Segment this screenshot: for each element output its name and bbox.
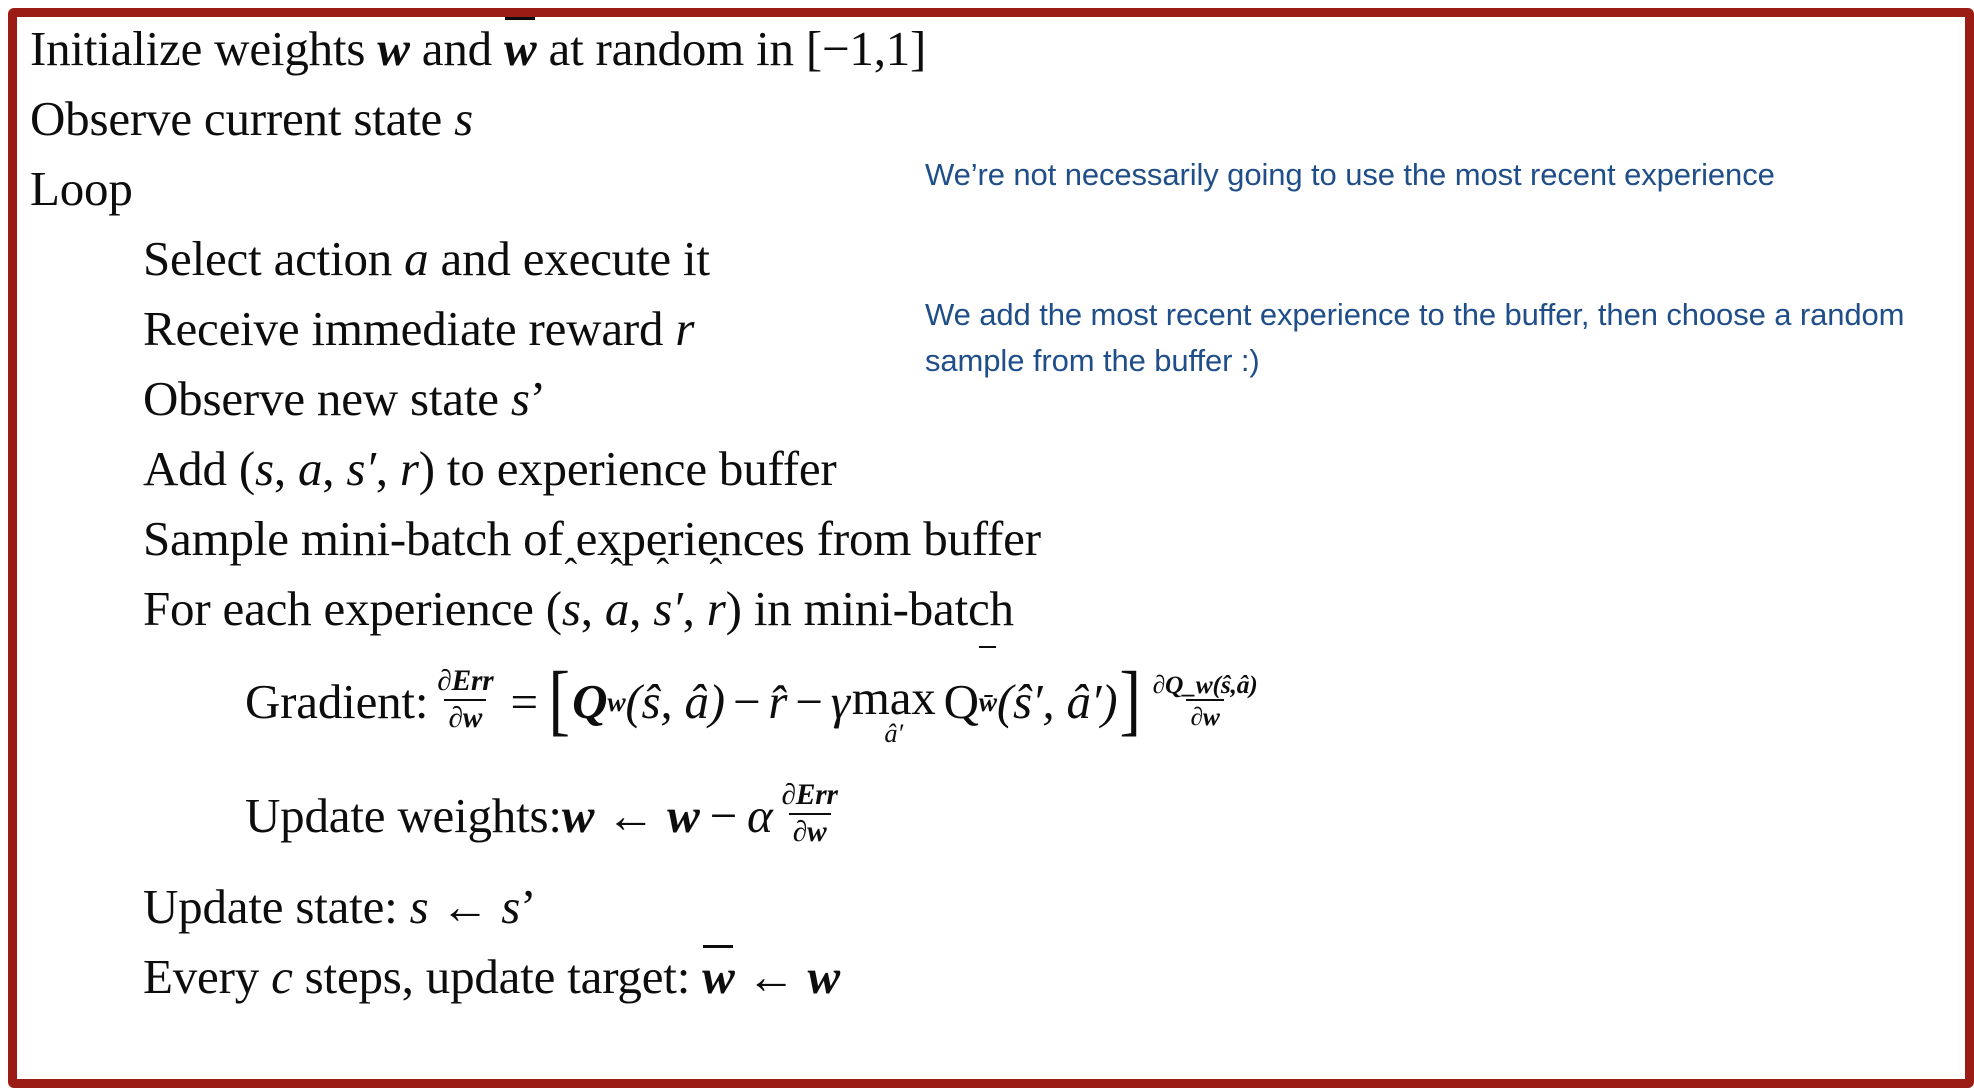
slide-canvas: Initialize weights w and w at random in … [0, 0, 1974, 1088]
line1-var-wbar: w [504, 14, 536, 84]
line9-var-s-hat: s [562, 574, 581, 644]
line9-text-a: For each experience ( [143, 581, 562, 636]
line4-text-b: and execute it [428, 231, 709, 286]
algo-line-initialize-weights: Initialize weights w and w at random in … [30, 14, 1430, 84]
line9-comma-2: , [629, 581, 653, 636]
update-target-arrow: ← [747, 949, 796, 1004]
line6-var-s: s [511, 371, 530, 426]
gradient-rhs-numerator: ∂Q_w(ŝ,â) [1149, 671, 1262, 700]
update-target-text-a: Every [143, 949, 271, 1004]
algo-line-for-each-experience: For each experience (s, a, s′, r) in min… [30, 574, 1430, 644]
gradient-max-limit: â′ [884, 720, 903, 746]
line4-text-a: Select action [143, 231, 404, 286]
gradient-q-target-args: (ŝ′, â′) [997, 644, 1118, 760]
gradient-rhs-fraction: ∂Q_w(ŝ,â)∂w [1149, 671, 1262, 732]
algo-line-observe-current-state: Observe current state s [30, 84, 1430, 154]
line9-text-b: ) in mini-batch [726, 581, 1014, 636]
gradient-q-target: Q [944, 644, 979, 760]
gradient-r-hat: r̂ [768, 644, 787, 760]
line7-comma-3: , [376, 441, 400, 496]
gradient-minus-1: − [733, 644, 760, 760]
gradient-q-online-args: (ŝ, â) [625, 644, 725, 760]
line5-text-a: Receive immediate reward [143, 301, 675, 356]
update-state-s-rhs: s [501, 879, 520, 934]
annotation-note-experience-replay: We’re not necessarily going to use the m… [925, 152, 1885, 198]
update-weights-denominator: ∂w [789, 813, 831, 850]
update-target-wbar: w [702, 942, 734, 1012]
gradient-left-bracket: [ [548, 642, 570, 758]
update-state-prime: ’ [520, 879, 536, 934]
algo-line-update-target: Every c steps, update target: w←w [30, 942, 1430, 1012]
update-weights-fraction: ∂Err∂w [778, 780, 842, 849]
gradient-q-online: Q [572, 644, 607, 760]
gradient-gamma: γ [831, 644, 850, 760]
update-state-s-lhs: s [410, 879, 429, 934]
update-weights-minus: − [710, 760, 737, 872]
line9-prime-2: ′ [672, 581, 683, 636]
line9-comma-3: , [683, 581, 707, 636]
gradient-max-operator: maxâ′ [852, 674, 936, 746]
gradient-rhs-denominator: ∂w [1186, 699, 1223, 731]
update-target-text-b: steps, update target: [293, 949, 703, 1004]
line7-var-s-prime: s [346, 441, 365, 496]
gradient-lhs-fraction: ∂Err∂w [433, 666, 497, 735]
algo-line-select-action: Select action a and execute it [30, 224, 1430, 294]
line1-var-w: w [377, 21, 409, 76]
gradient-lhs-denominator: ∂w [444, 699, 486, 736]
update-state-arrow: ← [440, 879, 489, 934]
update-weights-numerator: ∂Err [778, 780, 842, 813]
algo-line-gradient-equation: Gradient: ∂Err∂w=[Qw(ŝ, â)−r̂−γmaxâ′Qw̄(… [30, 644, 1430, 760]
line9-var-a-hat: a [605, 574, 629, 644]
line9-var-s-hat-prime: s [653, 574, 672, 644]
update-state-label: Update state: [143, 879, 410, 934]
gradient-max-label: max [852, 674, 936, 721]
line4-var-a: a [404, 231, 428, 286]
gradient-lhs-numerator: ∂Err [433, 666, 497, 699]
line6-prime: ’ [530, 371, 546, 426]
algo-line-update-weights: Update weights: w←w−α∂Err∂w [30, 760, 1430, 872]
algo-line-sample-minibatch: Sample mini-batch of experiences from bu… [30, 504, 1430, 574]
update-weights-alpha: α [747, 760, 773, 872]
algo-line-update-state: Update state: s←s’ [30, 872, 1430, 942]
update-target-w: w [807, 949, 839, 1004]
line2-var-s: s [454, 91, 473, 146]
line7-comma-1: , [274, 441, 298, 496]
gradient-minus-2: − [795, 644, 822, 760]
line1-text-b: and [410, 21, 504, 76]
line7-text-a: Add ( [143, 441, 255, 496]
gradient-q-online-subscript-w: w [607, 644, 625, 760]
gradient-label: Gradient: [245, 644, 428, 760]
gradient-equals-sign: = [510, 644, 537, 760]
line1-text-c: at random in [−1,1] [536, 21, 926, 76]
line7-var-s: s [255, 441, 274, 496]
update-weights-w-lhs: w [562, 760, 594, 872]
line7-prime-2: ′ [365, 441, 376, 496]
update-target-var-c: c [271, 949, 293, 1004]
line1-text-a: Initialize weights [30, 21, 377, 76]
line7-text-b: ) to experience buffer [419, 441, 837, 496]
line6-text-a: Observe new state [143, 371, 511, 426]
algo-line-add-to-buffer: Add (s, a, s′, r) to experience buffer [30, 434, 1430, 504]
line7-var-r: r [400, 441, 419, 496]
annotation-note-buffer-sampling: We add the most recent experience to the… [925, 292, 1905, 384]
line9-var-r-hat: r [707, 574, 726, 644]
gradient-q-target-subscript-wbar: w̄ [979, 644, 997, 760]
line7-comma-2: , [322, 441, 346, 496]
line5-var-r: r [675, 301, 694, 356]
line9-comma-1: , [581, 581, 605, 636]
update-weights-w-rhs: w [667, 760, 699, 872]
line7-var-a: a [298, 441, 322, 496]
gradient-right-bracket: ] [1120, 642, 1142, 758]
update-weights-label: Update weights: [245, 760, 562, 872]
line2-text-a: Observe current state [30, 91, 454, 146]
update-weights-arrow: ← [606, 760, 655, 872]
